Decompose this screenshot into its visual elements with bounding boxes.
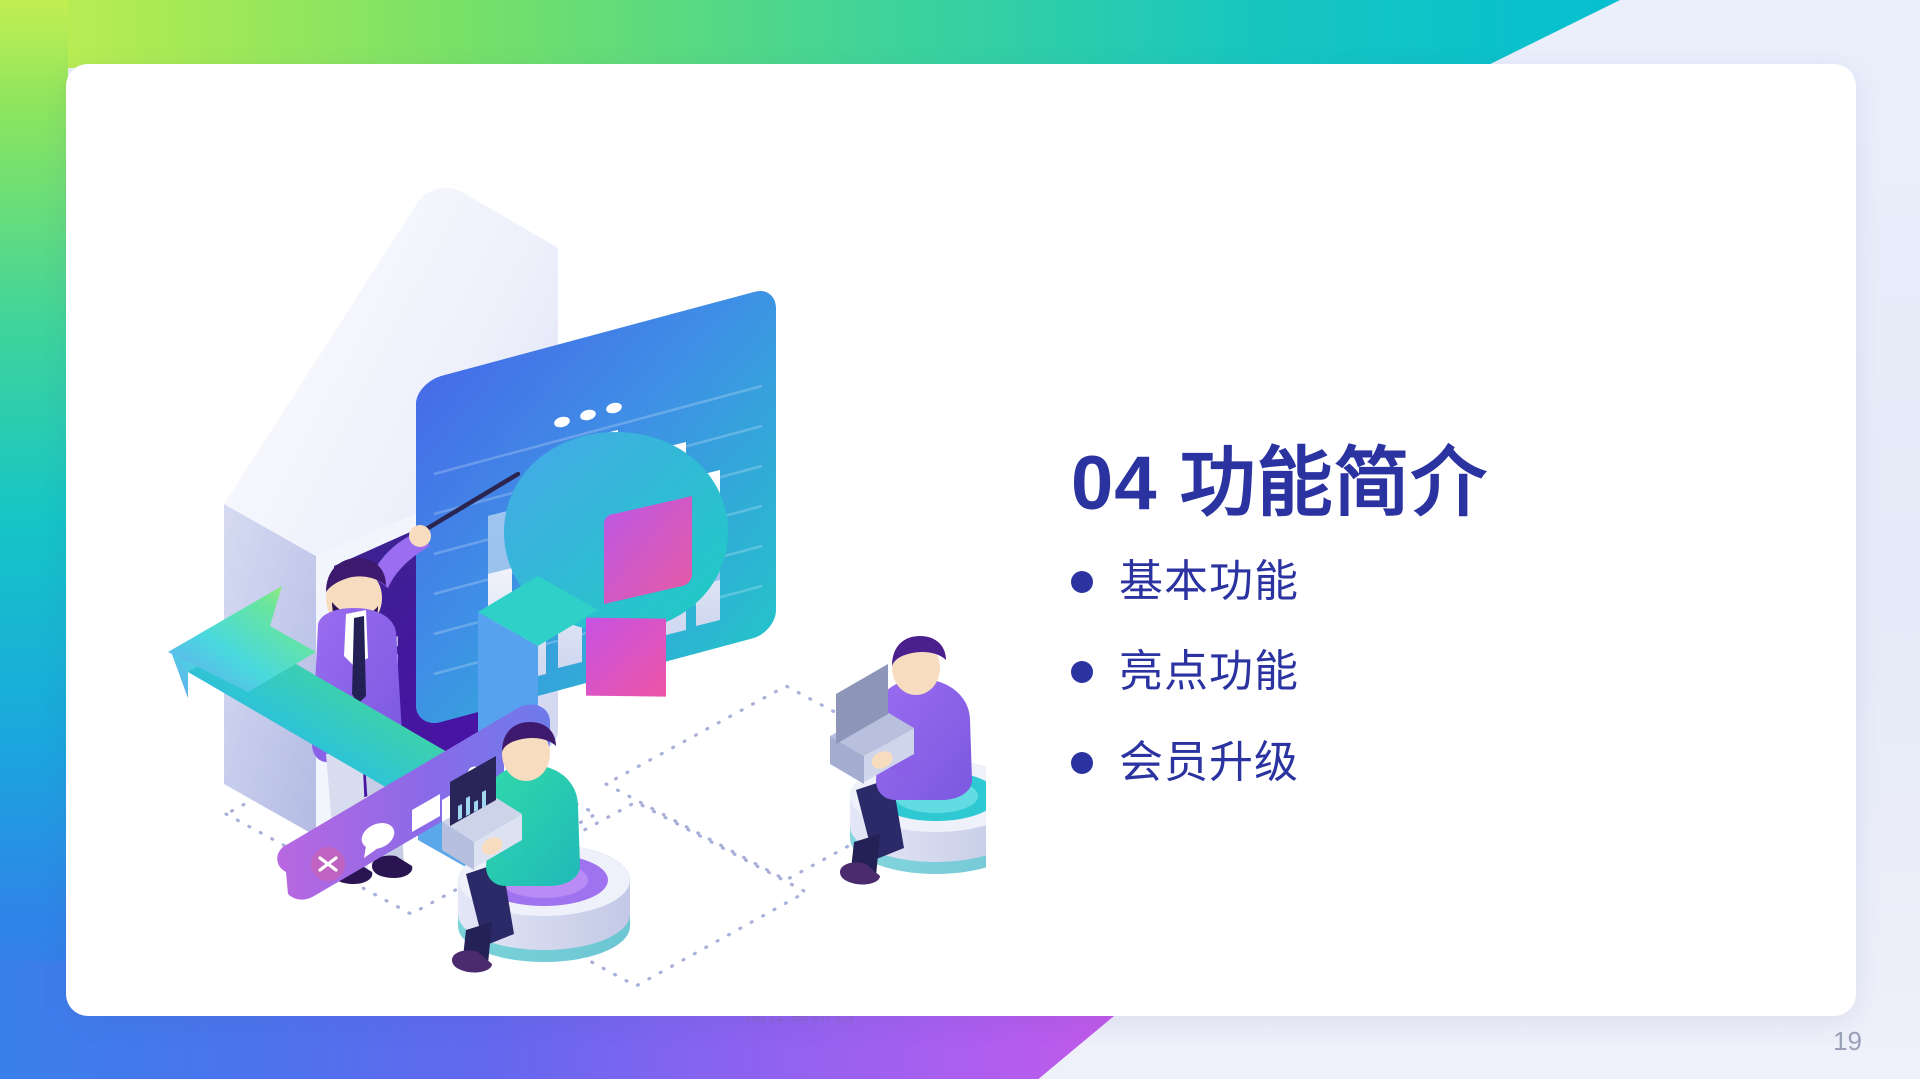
list-item[interactable]: 会员升级 (1071, 739, 1771, 787)
decorative-band-left (0, 0, 68, 1079)
decorative-band-top (0, 0, 1620, 68)
bullet-label: 基本功能 (1119, 558, 1299, 606)
list-item[interactable]: 基本功能 (1071, 558, 1771, 606)
bullet-list: 基本功能 亮点功能 会员升级 (1071, 558, 1771, 787)
isometric-illustration (166, 174, 986, 1004)
slide-content-card: 04 功能简介 基本功能 亮点功能 会员升级 (66, 64, 1856, 1016)
slide-text-column: 04 功能简介 基本功能 亮点功能 会员升级 (1071, 444, 1771, 787)
bullet-label: 会员升级 (1119, 739, 1299, 787)
laptop-user-back (830, 636, 986, 885)
page-number: 19 (1833, 1026, 1862, 1057)
bullet-dot-icon (1071, 571, 1093, 593)
close-icon (311, 847, 345, 881)
page-title: 04 功能简介 (1071, 444, 1771, 524)
list-item[interactable]: 亮点功能 (1071, 648, 1771, 696)
bullet-label: 亮点功能 (1119, 648, 1299, 696)
presentation-slide: 图怪兽原创 (0, 0, 1920, 1079)
bullet-dot-icon (1071, 752, 1093, 774)
bullet-dot-icon (1071, 661, 1093, 683)
